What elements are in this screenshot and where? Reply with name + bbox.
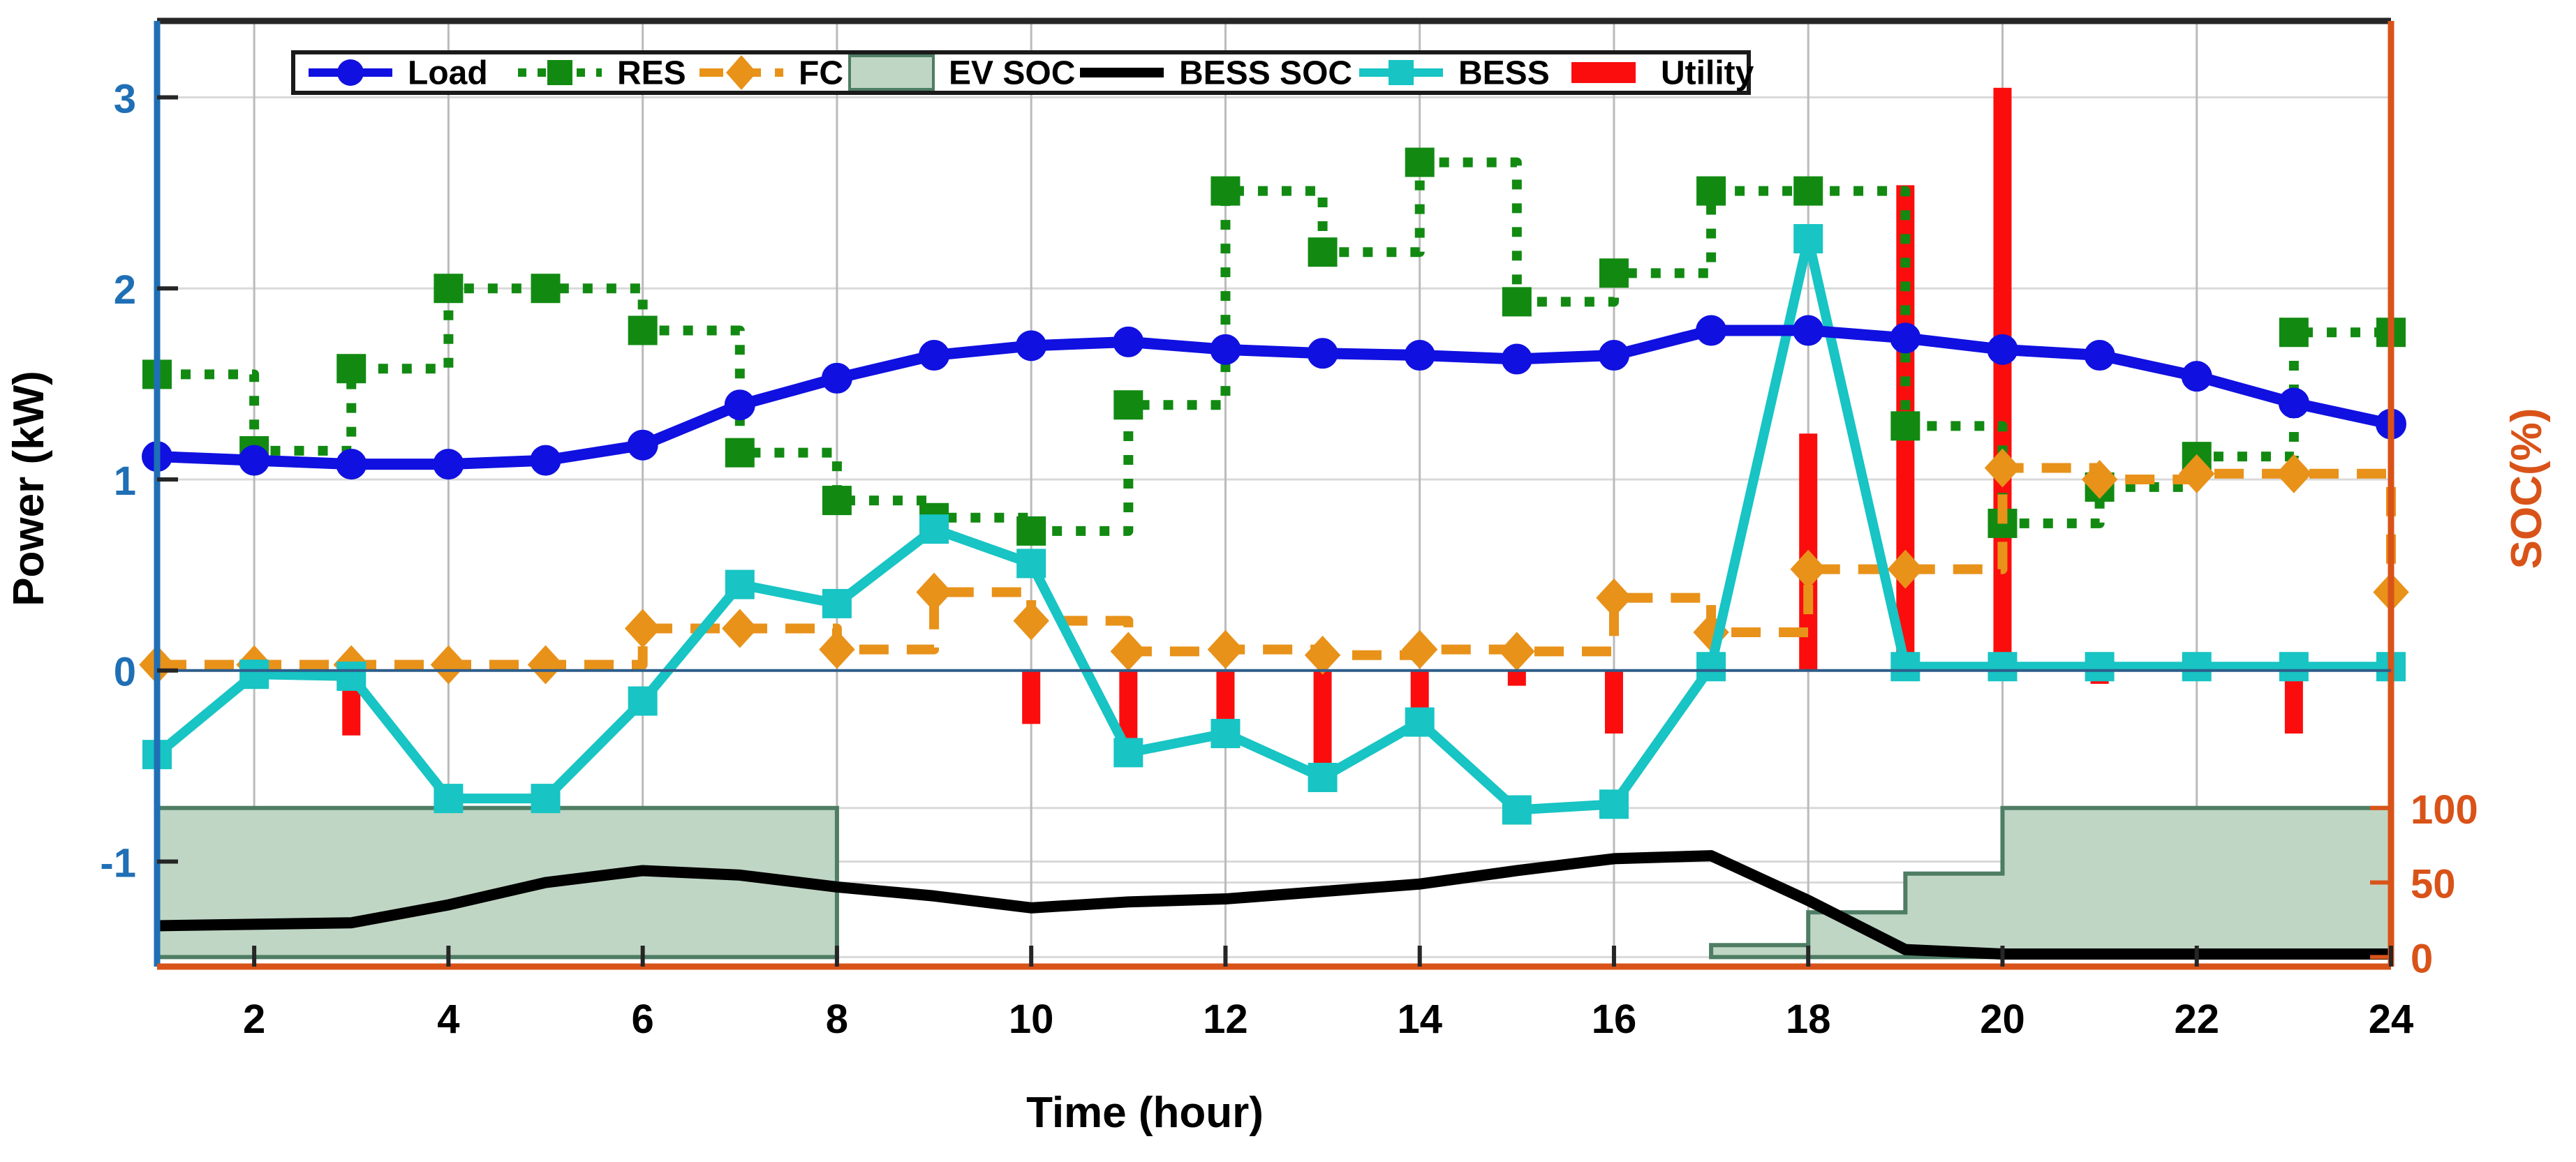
marker-load bbox=[1794, 316, 1822, 344]
marker-load bbox=[1891, 324, 1919, 352]
marker-res bbox=[1212, 178, 1238, 204]
x-tick-label: 4 bbox=[437, 997, 459, 1042]
marker-load bbox=[2280, 389, 2308, 417]
marker-res bbox=[1018, 518, 1044, 544]
y-tick-label: 1 bbox=[114, 459, 136, 504]
utility-bar bbox=[1605, 671, 1623, 733]
marker-load bbox=[629, 431, 657, 459]
marker-bess bbox=[1310, 764, 1336, 791]
marker-res bbox=[824, 487, 850, 514]
utility-bar bbox=[1993, 88, 2011, 671]
marker-bess bbox=[727, 572, 753, 598]
marker-load bbox=[532, 447, 560, 475]
y-tick-label: 3 bbox=[114, 76, 136, 121]
marker-load bbox=[337, 450, 365, 478]
marker-bess bbox=[2281, 653, 2307, 680]
marker-load bbox=[240, 447, 268, 475]
y2-axis-title: SOC(%) bbox=[2503, 408, 2551, 569]
legend-swatch-utility bbox=[1571, 62, 1636, 83]
marker-load bbox=[1114, 328, 1142, 356]
marker-load bbox=[1017, 332, 1045, 359]
marker-res bbox=[727, 440, 753, 466]
marker-bess bbox=[241, 661, 267, 687]
marker-res bbox=[1892, 412, 1918, 439]
utility-bar bbox=[1022, 671, 1040, 724]
marker-load bbox=[1211, 336, 1239, 364]
marker-bess bbox=[1989, 653, 2015, 680]
x-tick-label: 10 bbox=[1009, 997, 1054, 1042]
marker-bess bbox=[533, 785, 559, 812]
marker-load bbox=[1406, 341, 1434, 369]
y2-tick-label: 0 bbox=[2411, 936, 2433, 981]
marker-res bbox=[2281, 319, 2307, 345]
marker-load bbox=[1697, 316, 1725, 344]
legend-label-load: Load bbox=[408, 55, 488, 92]
y2-tick-label: 50 bbox=[2411, 862, 2456, 907]
x-tick-label: 20 bbox=[1980, 997, 2025, 1042]
marker-res bbox=[1310, 239, 1336, 265]
chart-background bbox=[0, 0, 2576, 1162]
marker-bess bbox=[2087, 653, 2113, 680]
marker-load bbox=[1309, 339, 1337, 367]
marker-bess bbox=[1212, 720, 1238, 747]
marker-bess bbox=[435, 785, 461, 812]
marker-bess bbox=[338, 663, 364, 690]
marker-res bbox=[435, 275, 461, 301]
marker-load bbox=[1600, 341, 1628, 369]
marker-bess bbox=[1698, 653, 1724, 680]
legend-label-utility: Utility bbox=[1661, 55, 1754, 92]
x-tick-label: 18 bbox=[1786, 997, 1831, 1042]
y-tick-label: -1 bbox=[100, 840, 136, 886]
marker-load bbox=[1503, 345, 1531, 373]
x-tick-label: 24 bbox=[2369, 997, 2414, 1042]
ev-soc-area-shape bbox=[157, 808, 837, 958]
chart-root: -1012305010024681012141618202224 Power (… bbox=[0, 0, 2576, 1162]
legend-marker-load bbox=[337, 59, 364, 86]
utility-bar bbox=[1508, 671, 1526, 686]
y-tick-label: 2 bbox=[114, 267, 136, 313]
marker-load bbox=[2183, 362, 2211, 390]
legend-label-res: RES bbox=[617, 55, 686, 92]
x-tick-label: 14 bbox=[1397, 997, 1442, 1042]
marker-res bbox=[533, 275, 559, 301]
marker-res bbox=[1407, 149, 1433, 176]
y2-tick-label: 100 bbox=[2411, 787, 2478, 833]
marker-bess bbox=[1892, 653, 1918, 680]
utility-bar bbox=[1314, 671, 1332, 776]
marker-bess bbox=[1018, 550, 1044, 576]
marker-bess bbox=[921, 516, 947, 542]
power-soc-chart: -1012305010024681012141618202224 Power (… bbox=[0, 0, 2576, 1162]
marker-load bbox=[1988, 336, 2016, 364]
x-tick-label: 12 bbox=[1203, 997, 1248, 1042]
x-tick-label: 2 bbox=[243, 997, 265, 1042]
legend-marker-bess bbox=[1389, 60, 1414, 85]
marker-bess bbox=[630, 688, 656, 715]
legend-label-bess: BESS bbox=[1458, 55, 1550, 92]
marker-bess bbox=[1601, 791, 1627, 817]
x-tick-label: 8 bbox=[826, 997, 848, 1042]
marker-load bbox=[823, 364, 851, 392]
marker-res bbox=[1698, 178, 1724, 204]
marker-bess bbox=[1504, 797, 1530, 824]
marker-res bbox=[630, 317, 656, 343]
chart-legend: LoadRESFCEV SOCBESS SOCBESSUtility bbox=[293, 52, 1754, 93]
marker-res bbox=[1504, 288, 1530, 315]
legend-label-ev-soc: EV SOC bbox=[949, 55, 1075, 92]
marker-res bbox=[1115, 392, 1141, 418]
marker-load bbox=[920, 341, 948, 369]
x-tick-label: 6 bbox=[632, 997, 654, 1042]
marker-bess bbox=[1115, 739, 1141, 766]
legend-swatch-ev-soc bbox=[850, 56, 933, 89]
x-tick-label: 22 bbox=[2174, 997, 2219, 1042]
marker-load bbox=[726, 391, 754, 419]
marker-bess bbox=[2184, 653, 2210, 680]
marker-res bbox=[1795, 178, 1821, 204]
legend-marker-res bbox=[547, 60, 572, 85]
marker-res bbox=[338, 355, 364, 382]
x-axis-title: Time (hour) bbox=[1026, 1089, 1264, 1137]
marker-res bbox=[1601, 260, 1627, 286]
marker-load bbox=[2086, 341, 2114, 369]
legend-label-bess-soc: BESS SOC bbox=[1179, 55, 1352, 92]
y-axis-title: Power (kW) bbox=[5, 371, 53, 606]
marker-load bbox=[434, 450, 462, 478]
y-tick-label: 0 bbox=[114, 650, 136, 695]
marker-bess bbox=[1795, 225, 1821, 252]
marker-bess bbox=[1407, 709, 1433, 736]
marker-bess bbox=[824, 590, 850, 617]
legend-label-fc: FC bbox=[799, 55, 843, 92]
x-tick-label: 16 bbox=[1592, 997, 1637, 1042]
